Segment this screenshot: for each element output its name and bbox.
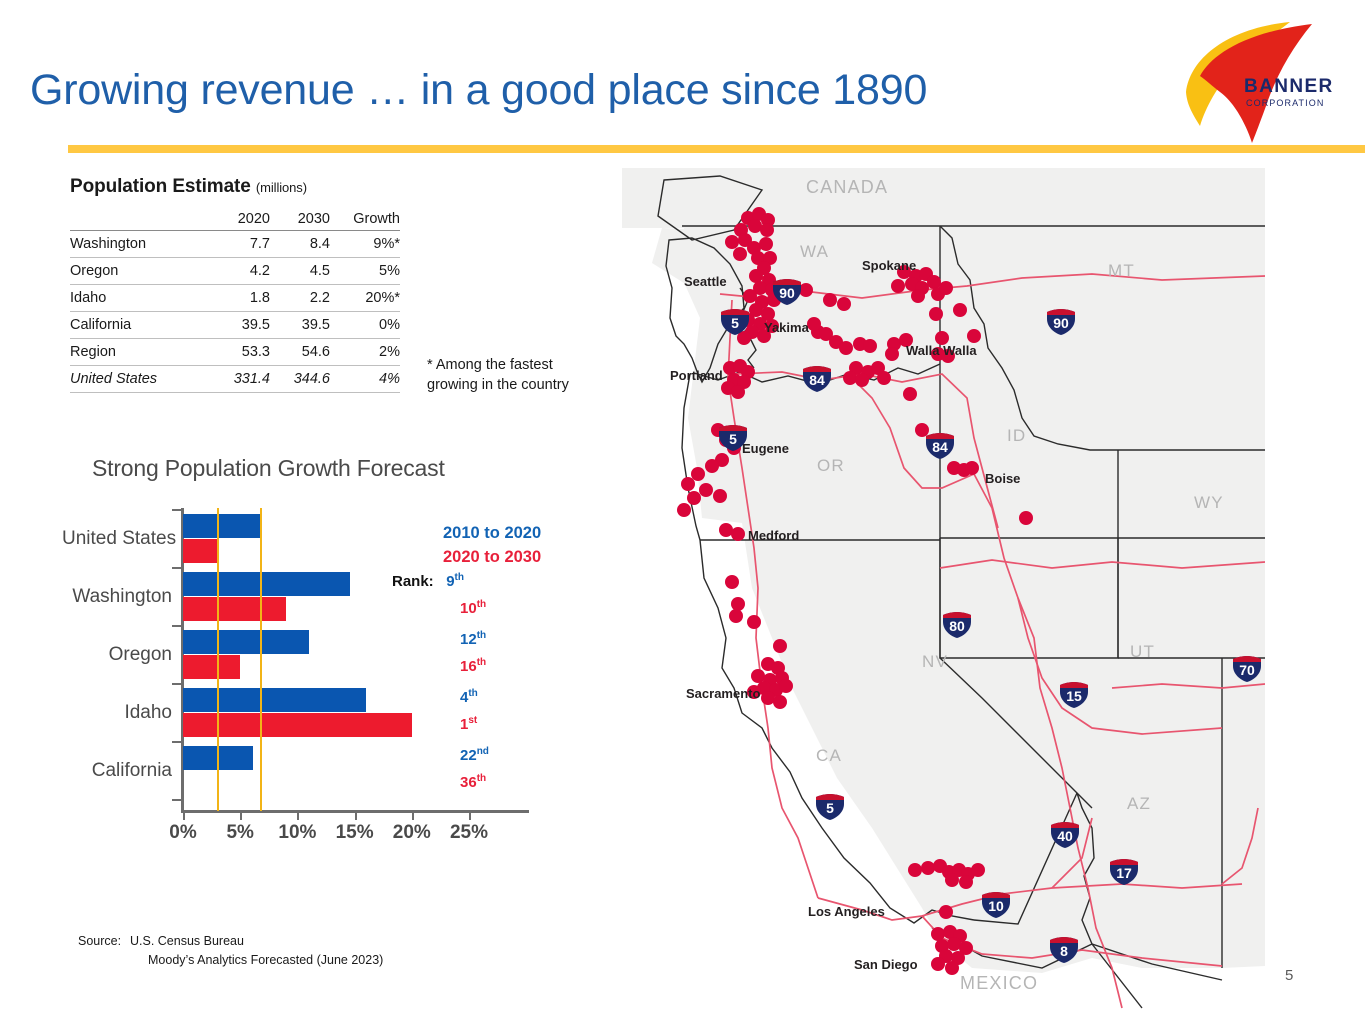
cell-2030: 344.6 — [270, 366, 330, 393]
shield-number: 5 — [815, 801, 845, 815]
rank-row-red: 10th — [460, 599, 486, 617]
rank-value-2010-2020: 22nd — [460, 747, 489, 764]
shield-number: 84 — [802, 373, 832, 387]
interstate-shield-90-mt: 90 — [1046, 308, 1076, 336]
cell-2020: 39.5 — [210, 312, 270, 339]
rank-value-2010-2020: 12th — [460, 631, 486, 648]
col-header-2020: 2020 — [210, 206, 270, 231]
table-row: Idaho1.82.220%* — [70, 285, 400, 312]
title-divider — [68, 145, 1365, 153]
map-label-ut: UT — [1130, 642, 1155, 662]
map-city-yakima: Yakima — [764, 320, 809, 335]
interstate-shield-5-or: 5 — [718, 424, 748, 452]
table-row: Washington7.78.49%* — [70, 231, 400, 258]
col-header-2030: 2030 — [270, 206, 330, 231]
table-row: United States331.4344.64% — [70, 366, 400, 393]
bar-2020-2030-united-states — [183, 539, 217, 563]
chart-category-tick — [172, 567, 181, 569]
population-table: 2020 2030 Growth Washington7.78.49%*Oreg… — [70, 206, 400, 393]
chart-x-tick-label: 5% — [226, 822, 253, 844]
shield-number: 17 — [1109, 866, 1139, 880]
cell-2020: 53.3 — [210, 339, 270, 366]
col-header-growth: Growth — [330, 206, 400, 231]
cell-growth: 0% — [330, 312, 400, 339]
row-label: California — [70, 312, 210, 339]
cell-growth: 9%* — [330, 231, 400, 258]
growth-footnote: * Among the fastest growing in the count… — [427, 356, 607, 395]
map-city-los-angeles: Los Angeles — [808, 904, 885, 919]
interstate-shield-17: 17 — [1109, 858, 1139, 886]
interstate-shield-80: 80 — [942, 611, 972, 639]
shield-number: 84 — [925, 440, 955, 454]
page-number: 5 — [1285, 967, 1293, 984]
chart-category-tick — [172, 741, 181, 743]
svg-text:CORPORATION: CORPORATION — [1246, 98, 1324, 108]
rank-row-red: 36th — [460, 773, 486, 791]
growth-forecast-chart: Strong Population Growth Forecast 0%5%10… — [62, 448, 592, 898]
population-table-body: Washington7.78.49%*Oregon4.24.55%Idaho1.… — [70, 231, 400, 393]
map-city-medford: Medford — [748, 528, 799, 543]
rank-value-2010-2020: 4th — [460, 689, 478, 706]
chart-x-tick — [297, 811, 299, 820]
chart-category-label: United States — [62, 528, 172, 550]
cell-2030: 54.6 — [270, 339, 330, 366]
map-label-mexico: MEXICO — [960, 973, 1038, 994]
map-city-sacramento: Sacramento — [686, 686, 760, 701]
rank-row-blue: Rank: 9th — [392, 572, 464, 590]
chart-reference-line — [217, 508, 219, 811]
shield-number: 70 — [1232, 663, 1262, 677]
chart-legend: 2010 to 2020 2020 to 2030 — [443, 522, 541, 570]
population-table-title: Population Estimate (millions) — [70, 176, 400, 198]
rank-label: Rank: — [392, 573, 434, 590]
shield-number: 8 — [1049, 944, 1079, 958]
rank-row-red: 16th — [460, 657, 486, 675]
row-label: United States — [70, 366, 210, 393]
interstate-shield-40: 40 — [1050, 821, 1080, 849]
interstate-shield-15: 15 — [1059, 681, 1089, 709]
chart-reference-line — [260, 508, 262, 811]
chart-x-tick-label: 0% — [169, 822, 196, 844]
chart-x-tick — [412, 811, 414, 820]
population-table-head: 2020 2030 Growth — [70, 206, 400, 231]
row-label: Idaho — [70, 285, 210, 312]
interstate-shield-84-id: 84 — [925, 432, 955, 460]
cell-growth: 5% — [330, 258, 400, 285]
chart-category-label: Oregon — [62, 644, 172, 666]
shield-number: 5 — [720, 316, 750, 330]
cell-2030: 2.2 — [270, 285, 330, 312]
cell-growth: 2% — [330, 339, 400, 366]
interstate-shield-5-ca: 5 — [815, 793, 845, 821]
map-city-walla-walla: Walla Walla — [906, 343, 977, 358]
bar-2020-2030-washington — [183, 597, 286, 621]
shield-number: 90 — [772, 286, 802, 300]
rank-row-blue: 12th — [460, 630, 486, 648]
map-label-wy: WY — [1194, 493, 1224, 513]
map-label-ca: CA — [816, 746, 842, 766]
shield-number: 40 — [1050, 829, 1080, 843]
branch-location-map: CANADA WA MT OR ID WY NV UT CA AZ MEXICO… — [622, 168, 1265, 1024]
table-row: Oregon4.24.55% — [70, 258, 400, 285]
source-label: Source: — [78, 932, 130, 951]
cell-growth: 20%* — [330, 285, 400, 312]
shield-number: 80 — [942, 619, 972, 633]
table-row: California39.539.50% — [70, 312, 400, 339]
cell-2030: 4.5 — [270, 258, 330, 285]
chart-category-label: California — [62, 760, 172, 782]
bar-2010-2020-united-states — [183, 514, 260, 538]
rank-row-blue: 4th — [460, 688, 478, 706]
legend-item-2010-2020: 2010 to 2020 — [443, 522, 541, 546]
chart-x-tick — [183, 811, 185, 820]
map-city-boise: Boise — [985, 471, 1020, 486]
chart-x-tick-label: 20% — [393, 822, 431, 844]
chart-category-tick — [172, 625, 181, 627]
cell-2030: 39.5 — [270, 312, 330, 339]
svg-text:BANNER: BANNER — [1244, 76, 1334, 97]
population-estimate-block: Population Estimate (millions) 2020 2030… — [70, 176, 400, 393]
map-label-nv: NV — [922, 652, 948, 672]
population-table-unit: (millions) — [256, 180, 307, 195]
map-label-az: AZ — [1127, 794, 1151, 814]
legend-item-2020-2030: 2020 to 2030 — [443, 546, 541, 570]
chart-category-tick — [172, 799, 181, 801]
chart-title: Strong Population Growth Forecast — [92, 455, 445, 482]
col-header-blank — [70, 206, 210, 231]
bar-2020-2030-oregon — [183, 655, 240, 679]
source-note: Source:U.S. Census Bureau Moody’s Analyt… — [78, 932, 383, 970]
map-label-mt: MT — [1108, 261, 1135, 281]
bar-2010-2020-idaho — [183, 688, 366, 712]
cell-2020: 1.8 — [210, 285, 270, 312]
map-city-spokane: Spokane — [862, 258, 916, 273]
cell-2030: 8.4 — [270, 231, 330, 258]
map-label-or: OR — [817, 456, 845, 476]
chart-x-tick-label: 25% — [450, 822, 488, 844]
source-line-1: U.S. Census Bureau — [130, 934, 244, 948]
cell-growth: 4% — [330, 366, 400, 393]
interstate-shield-8: 8 — [1049, 936, 1079, 964]
interstate-shield-90: 90 — [772, 278, 802, 306]
chart-x-tick — [240, 811, 242, 820]
interstate-shield-70: 70 — [1232, 655, 1262, 683]
chart-category-label: Washington — [62, 586, 172, 608]
cell-2020: 7.7 — [210, 231, 270, 258]
map-label-canada: CANADA — [806, 177, 888, 198]
cell-2020: 331.4 — [210, 366, 270, 393]
chart-category-label: Idaho — [62, 702, 172, 724]
table-row: Region53.354.62% — [70, 339, 400, 366]
shield-number: 5 — [718, 432, 748, 446]
chart-category-tick — [172, 683, 181, 685]
map-city-san-diego: San Diego — [854, 957, 918, 972]
shield-number: 90 — [1046, 316, 1076, 330]
chart-x-tick — [469, 811, 471, 820]
chart-category-tick — [172, 509, 181, 511]
rank-value-2010-2020: 9th — [446, 573, 464, 590]
row-label: Region — [70, 339, 210, 366]
slide-root: Growing revenue … in a good place since … — [0, 0, 1365, 1024]
bar-2010-2020-oregon — [183, 630, 309, 654]
interstate-shield-10: 10 — [981, 891, 1011, 919]
cell-2020: 4.2 — [210, 258, 270, 285]
chart-x-tick-label: 10% — [278, 822, 316, 844]
map-label-wa: WA — [800, 242, 829, 262]
interstate-shield-84-or: 84 — [802, 365, 832, 393]
rank-row-blue: 22nd — [460, 746, 489, 764]
rank-value-2020-2030: 1st — [460, 716, 477, 733]
page-title: Growing revenue … in a good place since … — [30, 66, 927, 115]
map-label-id: ID — [1007, 426, 1026, 446]
row-label: Washington — [70, 231, 210, 258]
source-line-2: Moody’s Analytics Forecasted (June 2023) — [78, 951, 383, 970]
bar-2010-2020-washington — [183, 572, 350, 596]
interstate-shield-5-wa: 5 — [720, 308, 750, 336]
rank-value-2020-2030: 16th — [460, 658, 486, 675]
chart-x-tick — [355, 811, 357, 820]
population-table-title-text: Population Estimate — [70, 176, 251, 197]
map-city-eugene: Eugene — [742, 441, 789, 456]
row-label: Oregon — [70, 258, 210, 285]
rank-value-2020-2030: 36th — [460, 774, 486, 791]
rank-value-2020-2030: 10th — [460, 600, 486, 617]
banner-corporation-logo: BANNER CORPORATION — [1180, 14, 1340, 144]
map-city-portland: Portland — [670, 368, 723, 383]
shield-number: 10 — [981, 899, 1011, 913]
map-city-seattle: Seattle — [684, 274, 727, 289]
chart-x-tick-label: 15% — [336, 822, 374, 844]
rank-row-red: 1st — [460, 715, 477, 733]
shield-number: 15 — [1059, 689, 1089, 703]
